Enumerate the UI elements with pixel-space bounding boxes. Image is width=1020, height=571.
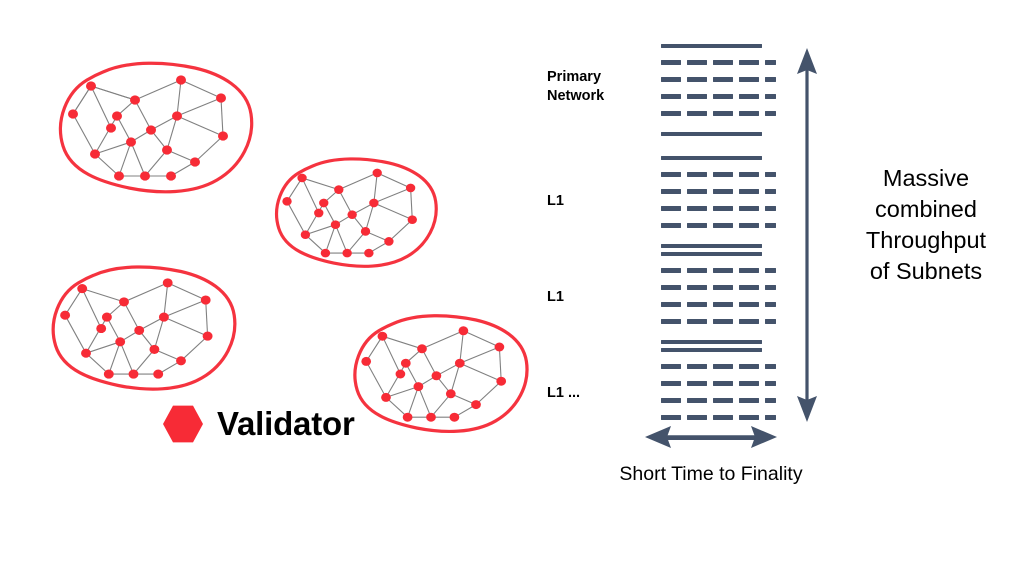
finality-arrow bbox=[641, 422, 781, 452]
block-dash-row bbox=[661, 285, 762, 290]
throughput-caption: Massive combined Throughput of Subnets bbox=[838, 163, 1014, 287]
block-dash-row bbox=[661, 223, 762, 228]
block-dash bbox=[661, 381, 681, 386]
subnet-graph-3 bbox=[48, 262, 238, 395]
stack-label-l1-2: L1 bbox=[547, 288, 564, 307]
throughput-stack bbox=[661, 44, 762, 426]
block-dash-row bbox=[661, 60, 762, 65]
block-dash bbox=[765, 223, 776, 228]
block-dash bbox=[687, 415, 707, 420]
block-dash bbox=[713, 94, 733, 99]
block-dash bbox=[739, 77, 759, 82]
block-dash bbox=[687, 268, 707, 273]
block-dash bbox=[765, 189, 776, 194]
block-dash-row bbox=[661, 268, 762, 273]
block-dash bbox=[739, 398, 759, 403]
block-dash bbox=[713, 381, 733, 386]
block-bottom-rail bbox=[661, 244, 762, 248]
stack-block-2 bbox=[661, 156, 762, 248]
block-dash bbox=[713, 398, 733, 403]
block-dash-row bbox=[661, 189, 762, 194]
block-dash bbox=[765, 268, 776, 273]
block-top-rail bbox=[661, 156, 762, 160]
block-top-rail bbox=[661, 348, 762, 352]
block-dash bbox=[661, 172, 681, 177]
block-dash bbox=[739, 172, 759, 177]
block-dash-row bbox=[661, 77, 762, 82]
subnet-cluster-2 bbox=[272, 153, 439, 273]
block-dash bbox=[661, 94, 681, 99]
block-dash-row bbox=[661, 319, 762, 324]
diagram-canvas: Validator Primary Network L1 L1 L1 ... M… bbox=[0, 0, 1020, 571]
block-dash bbox=[713, 415, 733, 420]
block-dash bbox=[713, 111, 733, 116]
block-dash-row bbox=[661, 94, 762, 99]
block-dash bbox=[739, 302, 759, 307]
block-dash bbox=[687, 111, 707, 116]
block-top-rail bbox=[661, 252, 762, 256]
block-dash bbox=[661, 398, 681, 403]
block-dash bbox=[739, 364, 759, 369]
block-dash bbox=[765, 398, 776, 403]
subnet-graph-1 bbox=[55, 58, 255, 198]
block-dash bbox=[713, 189, 733, 194]
block-dash bbox=[765, 172, 776, 177]
block-dash-row bbox=[661, 111, 762, 116]
block-dash bbox=[687, 398, 707, 403]
block-dash bbox=[661, 223, 681, 228]
block-dash bbox=[765, 302, 776, 307]
subnet-cluster-3 bbox=[48, 262, 238, 395]
block-dash bbox=[765, 94, 776, 99]
block-dash bbox=[661, 268, 681, 273]
stack-block-3 bbox=[661, 252, 762, 344]
block-dash-row bbox=[661, 415, 762, 420]
block-dash bbox=[713, 319, 733, 324]
block-dash bbox=[661, 319, 681, 324]
block-dash bbox=[687, 189, 707, 194]
block-dash bbox=[713, 302, 733, 307]
block-dash bbox=[739, 415, 759, 420]
validator-legend: Validator bbox=[163, 404, 355, 444]
stack-block-1 bbox=[661, 44, 762, 136]
block-top-rail bbox=[661, 44, 762, 48]
throughput-arrow bbox=[792, 44, 822, 426]
subnet-graph-4 bbox=[350, 311, 530, 437]
block-dash bbox=[661, 60, 681, 65]
stack-label-primary-network: Primary Network bbox=[547, 68, 604, 106]
block-dash bbox=[739, 319, 759, 324]
block-dash bbox=[739, 285, 759, 290]
block-dash bbox=[687, 364, 707, 369]
block-dash bbox=[687, 302, 707, 307]
block-dash bbox=[661, 302, 681, 307]
block-dash-row bbox=[661, 398, 762, 403]
block-dash bbox=[713, 364, 733, 369]
block-dash-row bbox=[661, 302, 762, 307]
block-dash bbox=[687, 285, 707, 290]
block-dash bbox=[713, 172, 733, 177]
block-dash bbox=[739, 268, 759, 273]
block-dash bbox=[661, 111, 681, 116]
block-dash bbox=[739, 223, 759, 228]
block-dash bbox=[687, 94, 707, 99]
block-dash bbox=[739, 94, 759, 99]
validator-legend-label: Validator bbox=[217, 405, 355, 443]
block-dash bbox=[765, 364, 776, 369]
block-dash bbox=[765, 285, 776, 290]
block-dash bbox=[687, 381, 707, 386]
block-dash bbox=[687, 172, 707, 177]
block-dash bbox=[765, 381, 776, 386]
block-dash bbox=[713, 268, 733, 273]
subnet-cluster-4 bbox=[350, 311, 530, 437]
block-dash bbox=[661, 285, 681, 290]
block-dash bbox=[765, 77, 776, 82]
block-dash-row bbox=[661, 364, 762, 369]
stack-label-l1-3: L1 ... bbox=[547, 384, 580, 403]
block-dash bbox=[765, 319, 776, 324]
block-dash bbox=[713, 223, 733, 228]
block-dash bbox=[739, 381, 759, 386]
block-dash bbox=[687, 206, 707, 211]
subnet-graph-2 bbox=[272, 153, 439, 273]
block-dash bbox=[765, 60, 776, 65]
block-dash bbox=[713, 285, 733, 290]
block-dash bbox=[687, 319, 707, 324]
block-dash-row bbox=[661, 381, 762, 386]
block-dash bbox=[661, 189, 681, 194]
stack-label-l1-1: L1 bbox=[547, 192, 564, 211]
block-dash-row bbox=[661, 172, 762, 177]
hexagon-icon bbox=[163, 404, 203, 444]
block-dash bbox=[687, 77, 707, 82]
block-dash bbox=[739, 206, 759, 211]
block-dash bbox=[661, 206, 681, 211]
block-bottom-rail bbox=[661, 132, 762, 136]
block-dash bbox=[739, 111, 759, 116]
block-dash bbox=[661, 77, 681, 82]
block-bottom-rail bbox=[661, 340, 762, 344]
block-dash bbox=[739, 60, 759, 65]
block-dash bbox=[713, 77, 733, 82]
block-dash bbox=[765, 415, 776, 420]
block-dash-row bbox=[661, 206, 762, 211]
subnet-cluster-1 bbox=[55, 58, 255, 198]
block-dash bbox=[765, 206, 776, 211]
block-dash bbox=[765, 111, 776, 116]
block-dash bbox=[661, 364, 681, 369]
block-dash bbox=[661, 415, 681, 420]
block-dash bbox=[713, 60, 733, 65]
block-dash bbox=[687, 223, 707, 228]
block-dash bbox=[713, 206, 733, 211]
finality-caption: Short Time to Finality bbox=[566, 462, 856, 487]
block-dash bbox=[739, 189, 759, 194]
block-dash bbox=[687, 60, 707, 65]
